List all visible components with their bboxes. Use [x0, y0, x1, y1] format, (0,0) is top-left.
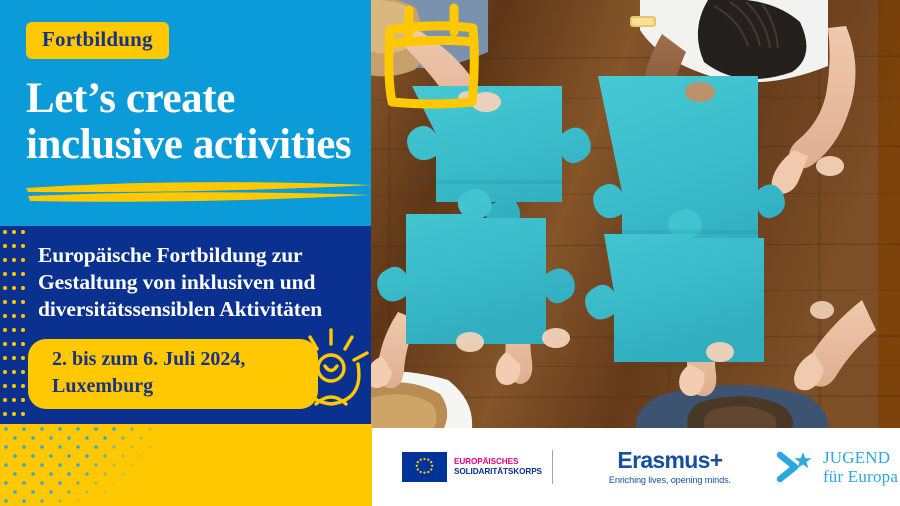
dot-pattern-bottom: [0, 424, 180, 506]
promotional-banner: Fortbildung Let’s create inclusive activ…: [0, 0, 900, 506]
logo-jugend-fuer-europa: JUGEND für Europa: [775, 448, 898, 486]
footer-logo-bar: EUROPÄISCHES SOLIDARITÄTSKORPS Erasmus+ …: [372, 428, 900, 506]
eu-stars-icon: [402, 452, 447, 482]
esc-line-2: SOLIDARITÄTSKORPS: [454, 467, 542, 477]
subheadline-line-3: diversitätssensiblen Aktivitäten: [38, 297, 322, 321]
headline-line-2: inclusive activities: [26, 122, 376, 168]
date-location-badge: 2. bis zum 6. Juli 2024, Luxemburg: [28, 339, 318, 409]
page-title: Let’s create inclusive activities: [26, 76, 376, 169]
esc-wordmark: EUROPÄISCHES SOLIDARITÄTSKORPS: [454, 457, 542, 476]
chevron-star-icon: [775, 450, 815, 484]
subheadline-line-2: Gestaltung von inklusiven und: [38, 270, 315, 294]
headline-line-1: Let’s create: [26, 75, 235, 122]
description-panel: Europäische Fortbildung zur Gestaltung v…: [0, 226, 371, 428]
eu-flag-icon: [402, 452, 447, 482]
subheadline-line-1: Europäische Fortbildung zur: [38, 243, 303, 267]
headline-panel: Fortbildung Let’s create inclusive activ…: [0, 0, 371, 226]
logo-erasmus-plus: Erasmus+ Enriching lives, opening minds.: [609, 449, 731, 485]
bottom-yellow-band: [0, 424, 372, 506]
jfe-wordmark: JUGEND für Europa: [823, 448, 898, 486]
date-line: 2. bis zum 6. Juli 2024,: [52, 348, 245, 370]
subheadline: Europäische Fortbildung zur Gestaltung v…: [38, 242, 368, 323]
photo-yellow-overlay-strip: [878, 0, 900, 428]
location-line: Luxemburg: [52, 375, 153, 397]
erasmus-wordmark: Erasmus+: [609, 449, 731, 472]
logo-divider: [552, 450, 553, 484]
esc-line-1: EUROPÄISCHES: [454, 457, 542, 467]
logo-european-solidarity-corps: EUROPÄISCHES SOLIDARITÄTSKORPS: [402, 450, 553, 484]
category-badge: Fortbildung: [26, 22, 169, 59]
erasmus-tagline: Enriching lives, opening minds.: [609, 475, 731, 485]
jfe-line-2: für Europa: [823, 467, 898, 486]
jfe-line-1: JUGEND: [823, 448, 898, 467]
